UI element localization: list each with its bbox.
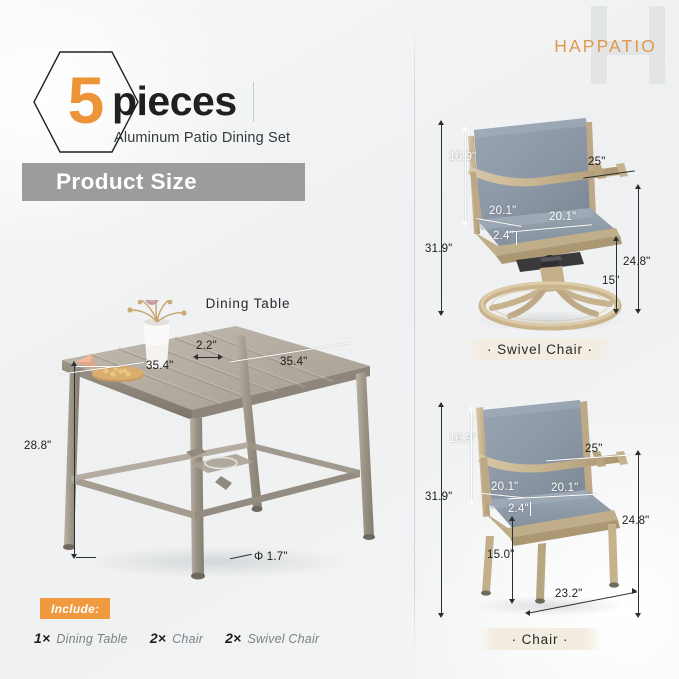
chair-dim-cushion-thickness: 2.4" xyxy=(508,503,529,515)
swivel-chair-illustration xyxy=(440,108,655,333)
product-size-banner: Product Size xyxy=(22,163,305,201)
table-thickness-line xyxy=(196,357,220,358)
include-item-name: Dining Table xyxy=(56,632,127,646)
swivel-back-height-line xyxy=(465,130,466,222)
swivel-dim-total-height: 31.9" xyxy=(425,243,452,255)
swivel-back-height-arrow-top xyxy=(462,126,468,131)
chair-dim-seat-height: 15.0" xyxy=(487,549,514,561)
swivel-dim-back-height: 16.9" xyxy=(449,151,476,163)
chair-dim-seat-width: 20.1" xyxy=(551,482,578,494)
table-dim-leg-diameter: Φ 1.7" xyxy=(254,551,288,563)
swivel-arm-height-arrow-top xyxy=(635,184,641,189)
swivel-arm-height-arrow-bottom xyxy=(635,309,641,314)
include-item: 1× Dining Table xyxy=(34,630,128,646)
swivel-chair-label: · Swivel Chair · xyxy=(487,342,593,357)
chair-base-depth-arrow-left xyxy=(525,610,530,616)
table-dim-height: 28.8" xyxy=(24,440,51,452)
swivel-dim-arm-height: 24.8" xyxy=(623,256,650,268)
chair-dim-overall-width: 25" xyxy=(585,443,602,455)
swivel-back-height-arrow-bottom xyxy=(462,221,468,226)
include-item: 2× Chair xyxy=(150,630,203,646)
chair-total-height-line xyxy=(441,406,442,614)
chair-base-depth-arrow-right xyxy=(632,588,637,594)
include-item-qty: 1× xyxy=(34,630,50,646)
table-bottom-guide xyxy=(76,557,96,558)
swivel-chair-label-band: · Swivel Chair · xyxy=(462,338,618,360)
dining-table-label-band: Dining Table xyxy=(192,292,304,314)
swivel-cushion-thickness-line xyxy=(516,231,517,245)
chair-back-height-arrow-top xyxy=(468,406,474,411)
table-dim-width-right: 35.4" xyxy=(280,356,307,368)
chair-dim-total-height: 31.9" xyxy=(425,491,452,503)
chair-dim-seat-depth: 20.1" xyxy=(491,481,518,493)
swivel-total-height-arrow-top xyxy=(438,120,444,125)
chair-seat-height-arrow-top xyxy=(509,516,515,521)
chair-dim-base-depth: 23.2" xyxy=(555,588,582,600)
swivel-dim-overall-width: 25" xyxy=(588,156,605,168)
brand-logo-text: HAPPATIO xyxy=(554,36,657,57)
swivel-arm-height-line xyxy=(638,188,639,310)
chair-total-height-arrow-bottom xyxy=(438,613,444,618)
product-subtitle: Aluminum Patio Dining Set xyxy=(114,130,290,146)
swivel-seat-height-line xyxy=(616,240,617,310)
chair-arm-height-line xyxy=(638,454,639,614)
include-items-row: 1× Dining Table 2× Chair 2× Swivel Chair xyxy=(34,630,374,646)
chair-seat-height-arrow-bottom xyxy=(509,599,515,604)
swivel-seat-height-arrow-bottom xyxy=(613,309,619,314)
include-item-name: Chair xyxy=(172,632,203,646)
chair-cushion-thickness-line xyxy=(530,502,531,516)
table-thickness-arrow-left xyxy=(193,354,198,360)
infographic-canvas: HAPPATIO 5 pieces Aluminum Patio Dining … xyxy=(0,0,679,679)
product-size-banner-label: Product Size xyxy=(56,169,197,195)
chair-label-band: · Chair · xyxy=(478,628,602,650)
swivel-total-height-line xyxy=(441,124,442,312)
chair-back-height-line xyxy=(471,410,472,502)
dining-table-label: Dining Table xyxy=(206,296,291,311)
chair-total-height-arrow-top xyxy=(438,402,444,407)
include-badge: Include: xyxy=(40,598,110,619)
table-height-line xyxy=(74,365,75,555)
chair-arm-height-arrow-top xyxy=(635,450,641,455)
panel-vertical-divider xyxy=(414,18,415,662)
chair-label: · Chair · xyxy=(512,632,569,647)
swivel-dim-seat-width: 20.1" xyxy=(549,211,576,223)
include-item-qty: 2× xyxy=(225,630,241,646)
table-dim-width-left: 35.4" xyxy=(146,360,173,372)
chair-back-height-arrow-bottom xyxy=(468,501,474,506)
swivel-total-height-arrow-bottom xyxy=(438,311,444,316)
include-item-name: Swivel Chair xyxy=(247,632,319,646)
table-thickness-arrow-right xyxy=(218,354,223,360)
swivel-seat-height-arrow-top xyxy=(613,236,619,241)
chair-dim-back-height: 16.9" xyxy=(449,433,476,445)
chair-arm-height-arrow-bottom xyxy=(635,613,641,618)
swivel-dim-seat-depth: 20.1" xyxy=(489,205,516,217)
include-item: 2× Swivel Chair xyxy=(225,630,319,646)
header-divider xyxy=(253,82,254,122)
chair-dim-arm-height: 24.8" xyxy=(622,515,649,527)
table-dim-thickness: 2.2" xyxy=(196,340,217,352)
include-item-qty: 2× xyxy=(150,630,166,646)
pieces-word: pieces xyxy=(112,78,237,125)
chair-seat-height-line xyxy=(512,520,513,600)
